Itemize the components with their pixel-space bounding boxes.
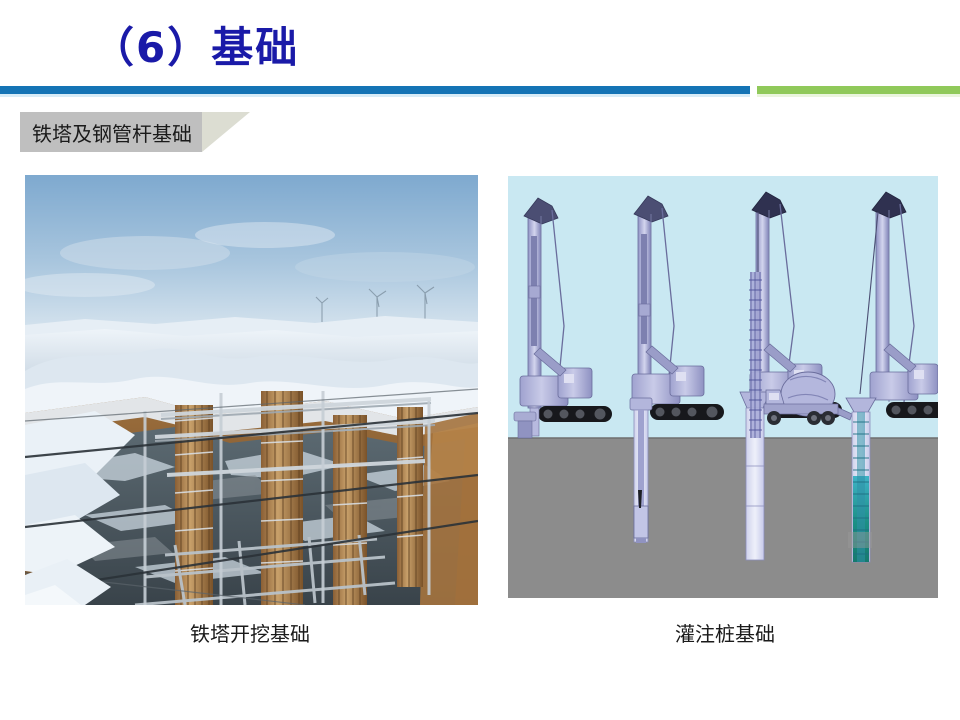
divider-rule-blue [0, 86, 750, 94]
section-banner: 铁塔及钢管杆基础 [20, 112, 202, 152]
banner-arrow-tail [202, 112, 250, 152]
figure-left-caption: 铁塔开挖基础 [190, 618, 310, 647]
figure-right-caption: 灌注桩基础 [675, 618, 775, 647]
divider-rule-green [757, 86, 960, 94]
bored-pile-sequence-illustration [508, 176, 938, 598]
figure-left-photo [25, 175, 478, 605]
divider-rule-blue-shadow [0, 94, 750, 97]
slide-canvas: （6）基础 铁塔及钢管杆基础 [0, 0, 960, 720]
section-banner-box: 铁塔及钢管杆基础 [20, 112, 202, 152]
divider-rule-green-shadow [757, 94, 960, 97]
figure-right-diagram [508, 176, 938, 598]
section-banner-label: 铁塔及钢管杆基础 [32, 118, 192, 147]
page-title: （6）基础 [92, 14, 299, 75]
tower-excavation-illustration [25, 175, 478, 605]
